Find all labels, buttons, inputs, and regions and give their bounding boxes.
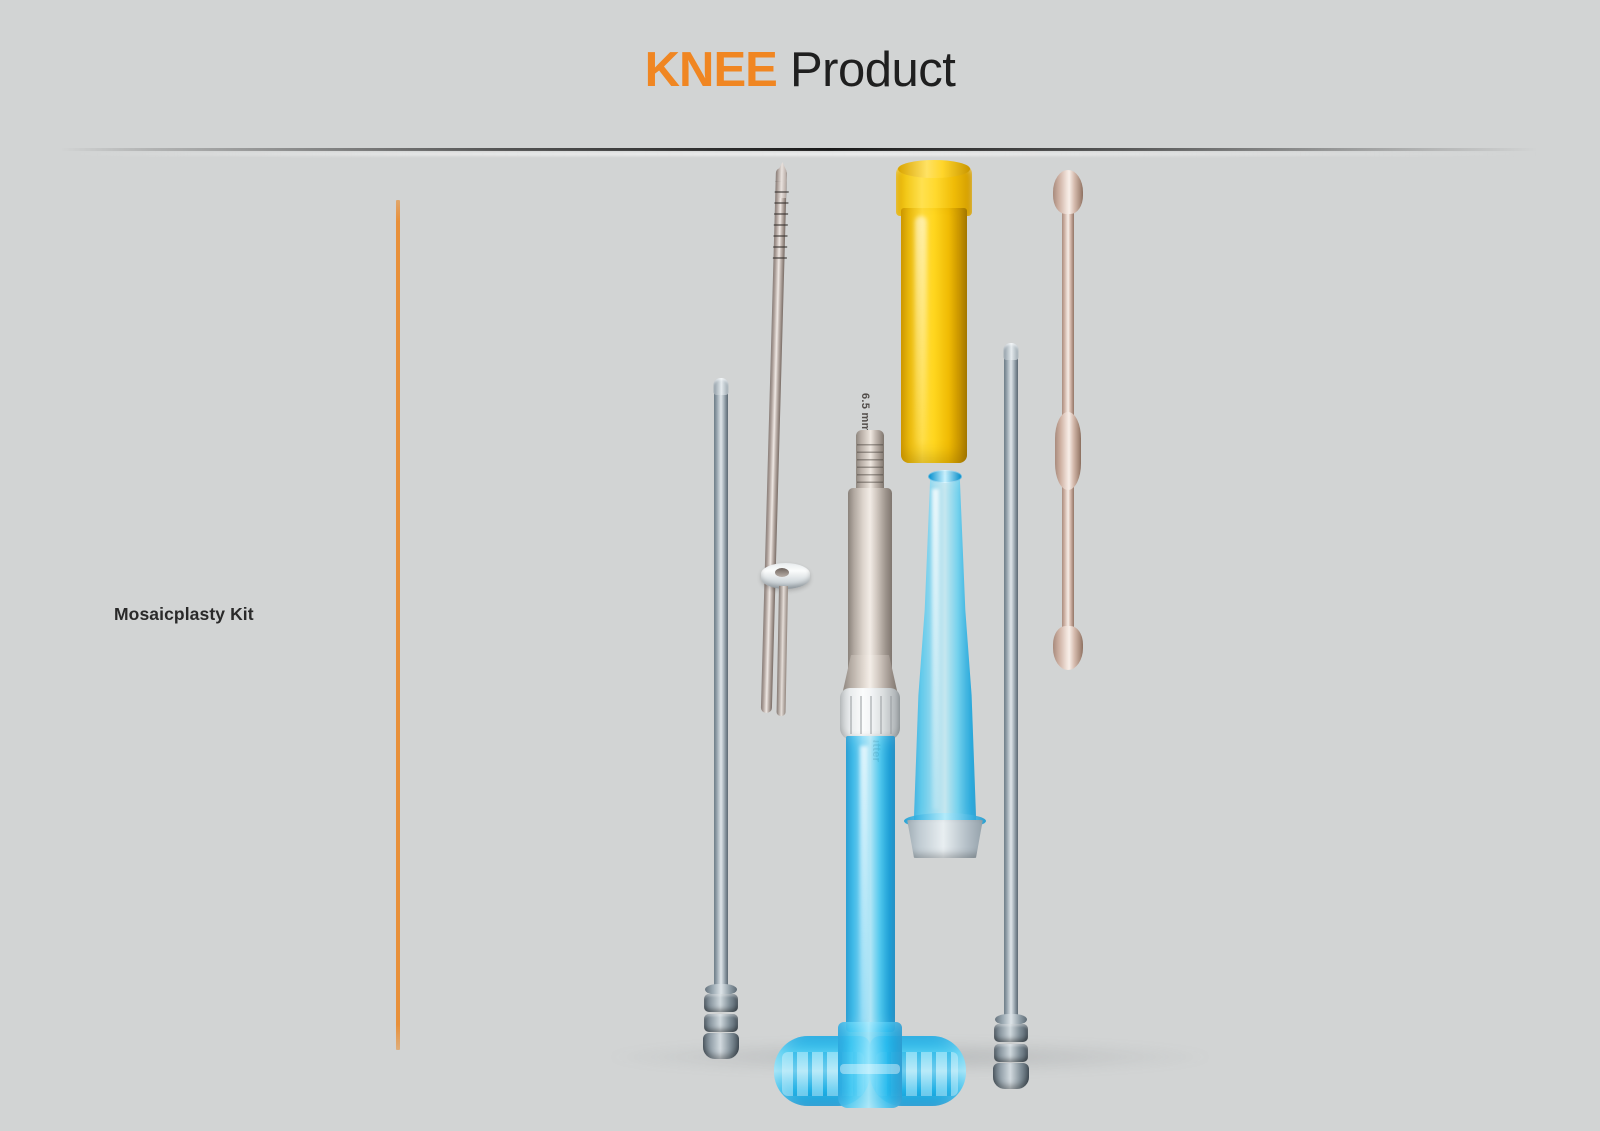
bone-tamp-bottom-end — [1053, 626, 1083, 670]
drill-bit-graduation-marks — [773, 182, 789, 260]
probe-base-foot — [703, 1033, 739, 1059]
product-cutter: 6.5 mm Cutter — [810, 430, 930, 1070]
product-grey-probe-right — [993, 345, 1029, 1090]
page-title-accent: KNEE — [645, 43, 777, 97]
probe-tip — [1004, 343, 1019, 360]
accent-vertical-divider — [396, 200, 400, 1050]
product-grey-probe-left — [703, 380, 739, 1060]
yellow-sleeve-cap-rim — [898, 160, 970, 178]
cutter-blue-shaft-highlight — [860, 746, 868, 1021]
probe-tip — [714, 378, 729, 395]
probe-base-ring — [704, 994, 738, 1012]
blue-tube-highlight — [932, 489, 939, 809]
product-image-stage: 6.5 mm Drill Bit — [620, 150, 1180, 1070]
probe-shaft — [1004, 345, 1018, 1018]
cutter-blue-shaft — [846, 736, 895, 1032]
page-header: KNEE Product — [0, 0, 1600, 140]
cutter-collar-ribs — [842, 696, 898, 734]
probe-threaded-base — [703, 984, 739, 1060]
drill-bit-depth-stop-bore — [775, 568, 789, 577]
cutter-shaft — [848, 488, 892, 678]
t-handle-hub-band — [840, 1064, 900, 1074]
cutter-graduation-marks — [857, 438, 883, 486]
bone-tamp-top-end — [1053, 170, 1083, 214]
page-title: KNEE Product — [645, 46, 956, 95]
probe-threaded-base — [993, 1014, 1029, 1090]
drill-bit-lower-shaft — [777, 586, 788, 716]
bone-tamp-mid-bulge — [1055, 412, 1081, 490]
probe-base-ring — [994, 1044, 1028, 1062]
cutter-t-handle — [774, 1022, 966, 1117]
probe-base-ring — [704, 1014, 738, 1032]
product-caption-label: Mosaicplasty Kit — [114, 604, 254, 625]
page-title-rest: Product — [790, 43, 955, 97]
blue-tube-rim — [928, 470, 962, 483]
product-yellow-sleeve — [895, 164, 973, 464]
product-bone-tamp — [1045, 170, 1091, 670]
probe-base-ring — [994, 1024, 1028, 1042]
yellow-sleeve-highlight — [915, 216, 927, 446]
probe-base-foot — [993, 1063, 1029, 1089]
probe-shaft — [714, 380, 728, 988]
yellow-sleeve-body — [901, 208, 967, 463]
product-drill-bit: 6.5 mm Drill Bit — [755, 168, 815, 793]
